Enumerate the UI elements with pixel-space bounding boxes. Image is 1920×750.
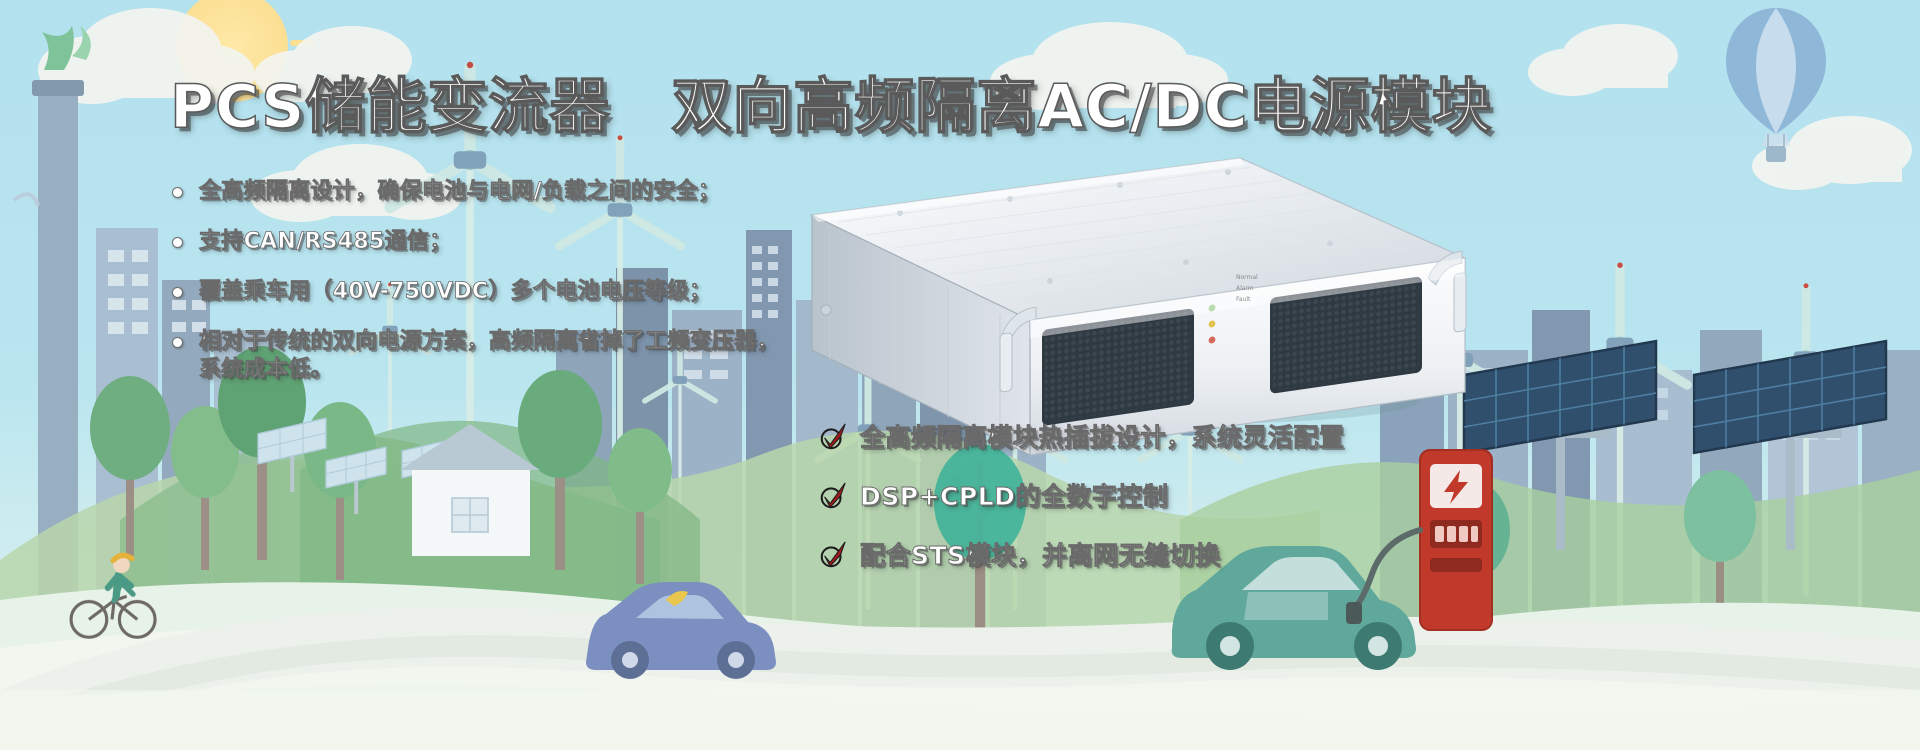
check-circle-icon — [818, 480, 848, 510]
feature-bullet-line-2: 系统成本低。 — [199, 356, 779, 384]
highlight-text: 配合STS模块，并离网无缝切换 — [860, 536, 1221, 572]
bullet-dot-icon — [172, 337, 183, 348]
check-circle-icon — [818, 421, 848, 451]
highlight-text: 全高频隔离模块热插拔设计，系统灵活配置 — [860, 418, 1345, 454]
feature-bullet-text: 支持CAN/RS485通信； — [199, 228, 452, 256]
check-circle-icon — [818, 539, 848, 569]
feature-bullet-line-1: 相对于传统的双向电源方案，高频隔离省掉了工频变压器， — [199, 329, 779, 354]
bullet-dot-icon — [172, 187, 183, 198]
banner-title: PCS储能变流器 双向高频隔离AC/DC电源模块 — [170, 58, 1493, 145]
feature-bullet-item: 覆盖乘车用（40V-750VDC）多个电池电压等级； — [172, 278, 892, 306]
highlight-item: DSP+CPLD的全数字控制 — [818, 477, 1345, 513]
led-label-alarm: Alarm — [1236, 283, 1258, 294]
feature-bullet-list: 全高频隔离设计，确保电池与电网/负载之间的安全； 支持CAN/RS485通信； … — [172, 178, 892, 406]
feature-bullet-item: 全高频隔离设计，确保电池与电网/负载之间的安全； — [172, 178, 892, 206]
highlight-item: 配合STS模块，并离网无缝切换 — [818, 536, 1345, 572]
bullet-dot-icon — [172, 287, 183, 298]
feature-bullet-text-multiline: 相对于传统的双向电源方案，高频隔离省掉了工频变压器， 系统成本低。 — [199, 328, 779, 384]
highlight-item: 全高频隔离模块热插拔设计，系统灵活配置 — [818, 418, 1345, 454]
feature-bullet-text: 覆盖乘车用（40V-750VDC）多个电池电压等级； — [199, 278, 711, 306]
led-label-fault: Fault — [1236, 294, 1258, 305]
feature-bullet-item: 支持CAN/RS485通信； — [172, 228, 892, 256]
bullet-dot-icon — [172, 237, 183, 248]
promo-banner: Normal Alarm Fault PCS储能变流器 双向高频隔离AC/DC电… — [0, 0, 1920, 750]
highlight-text: DSP+CPLD的全数字控制 — [860, 477, 1168, 513]
led-label-normal: Normal — [1236, 272, 1258, 283]
feature-bullet-text: 全高频隔离设计，确保电池与电网/负载之间的安全； — [199, 178, 720, 206]
led-label-group: Normal Alarm Fault — [1236, 272, 1258, 305]
feature-bullet-item: 相对于传统的双向电源方案，高频隔离省掉了工频变压器， 系统成本低。 — [172, 328, 892, 384]
highlight-check-list: 全高频隔离模块热插拔设计，系统灵活配置 DSP+CPLD的全数字控制 配合STS… — [818, 418, 1345, 595]
